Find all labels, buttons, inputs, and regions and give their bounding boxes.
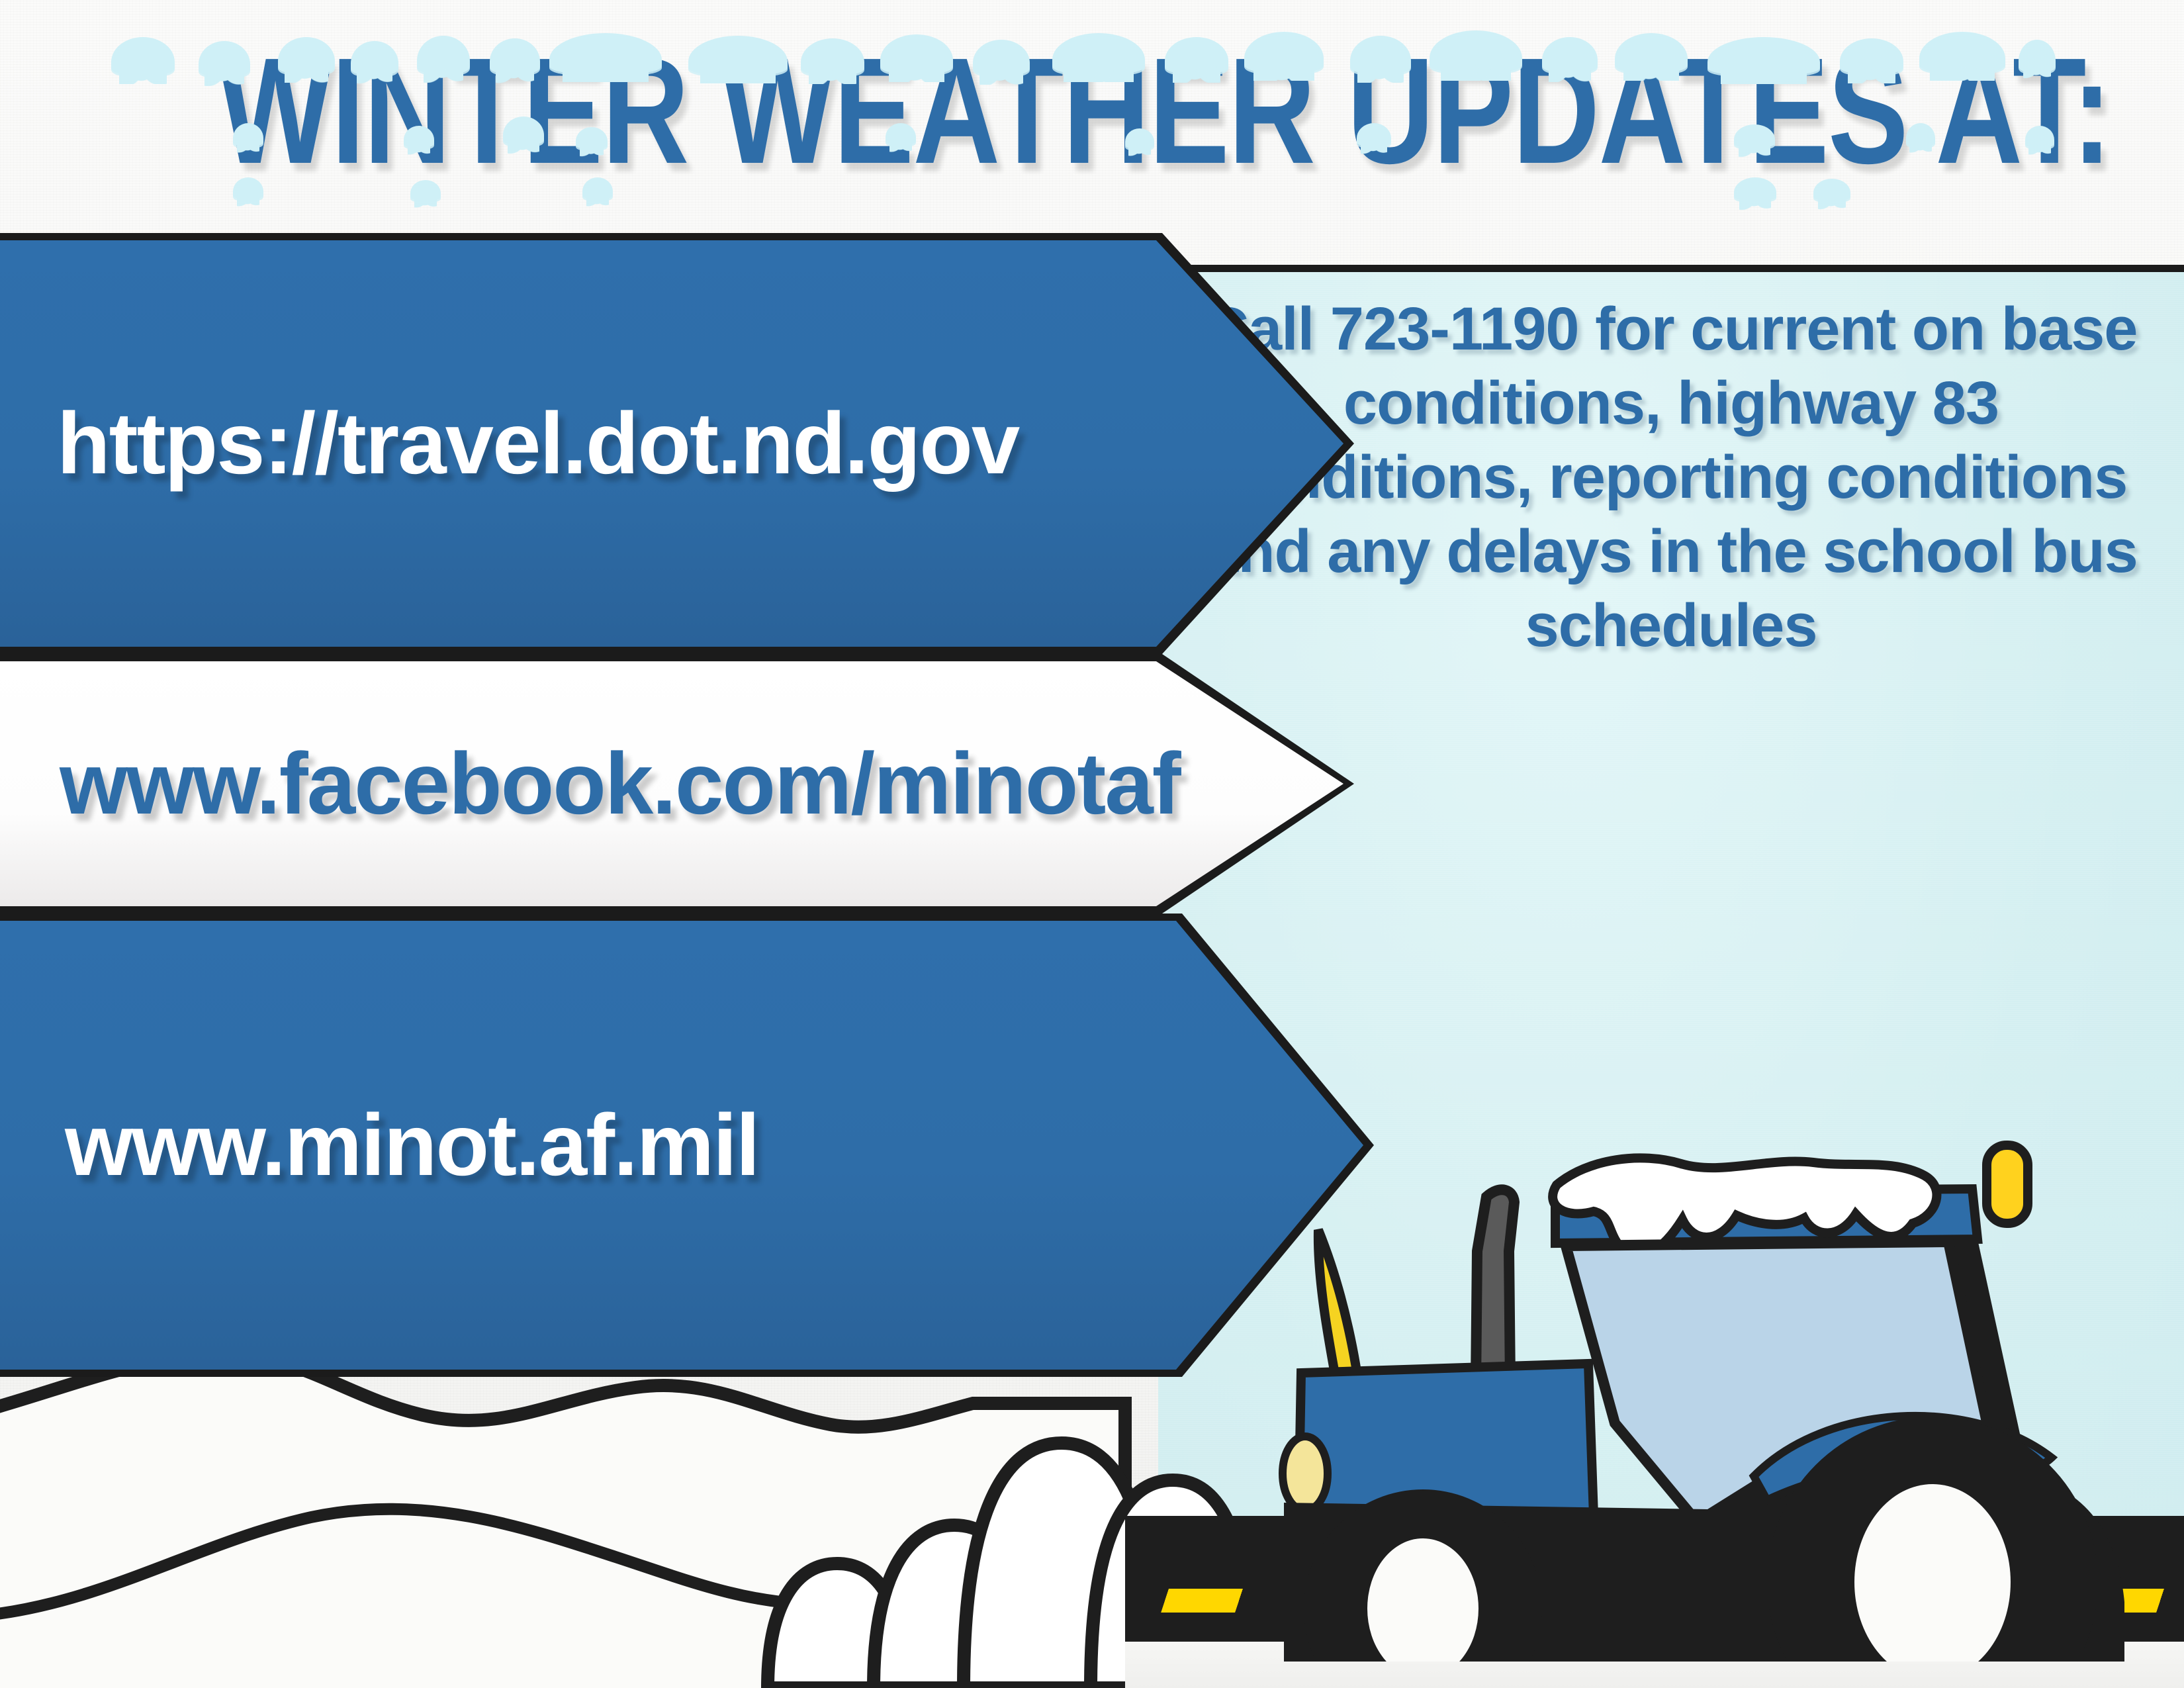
snow-cap-icon [111, 37, 175, 74]
banner-label: www.facebook.com/minotaf [60, 740, 1180, 827]
banner-minot-af-mil[interactable]: www.minot.af.mil [0, 914, 1374, 1377]
beacon-light-icon [1987, 1145, 2028, 1223]
banner-facebook-minotaf[interactable]: www.facebook.com/minotaf [0, 654, 1354, 914]
winter-weather-poster: WINTER WEATHER UPDATES AT: [0, 0, 2184, 1688]
headlight-icon [1283, 1436, 1328, 1511]
snowplow-tractor-illustration [1244, 1053, 2184, 1662]
banner-fill: www.facebook.com/minotaf [0, 661, 1343, 906]
hitch-detail [1678, 1607, 1751, 1631]
banner-travel-dot-nd-gov[interactable]: https://travel.dot.nd.gov [0, 233, 1354, 654]
banner-fill: https://travel.dot.nd.gov [0, 240, 1343, 647]
banner-label: https://travel.dot.nd.gov [57, 400, 1019, 487]
exhaust-stack-icon [1476, 1190, 1514, 1383]
info-panel-text: Call 723-1190 for current on base condit… [1185, 292, 2158, 663]
title-band: WINTER WEATHER UPDATES AT: [0, 0, 2184, 265]
banner-fill: www.minot.af.mil [0, 921, 1363, 1370]
banner-label: www.minot.af.mil [65, 1102, 759, 1189]
